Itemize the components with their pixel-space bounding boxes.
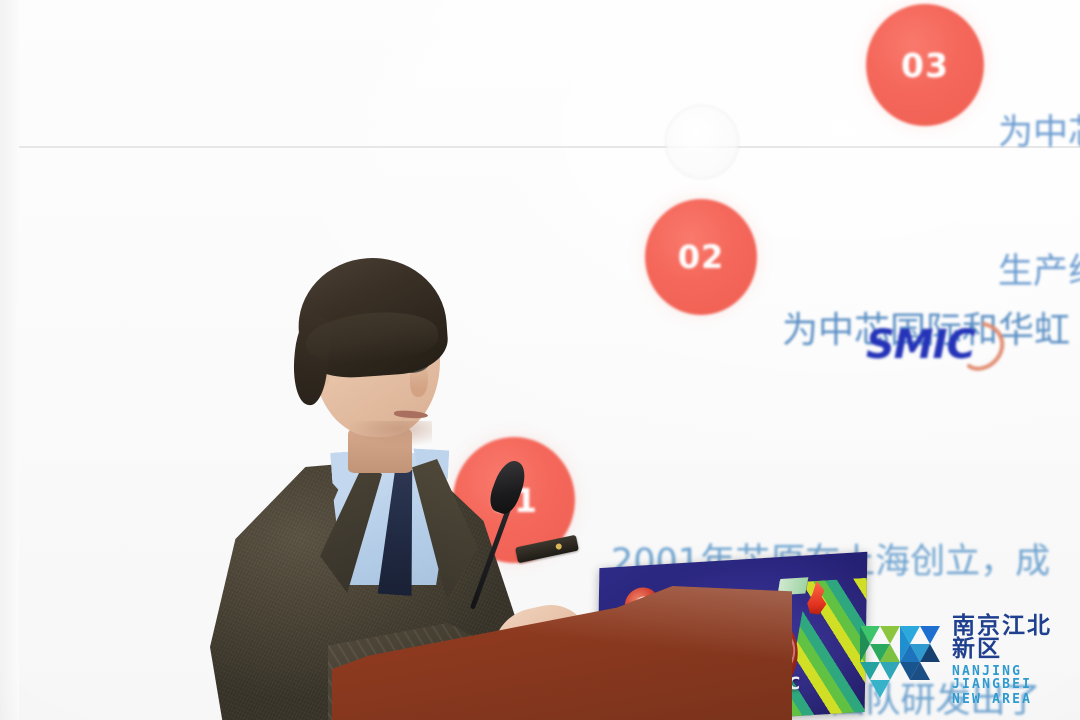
watermark-en-line2: NEW AREA: [952, 693, 1072, 706]
gooseneck-microphone: [470, 460, 600, 610]
microphone-stem: [470, 497, 515, 610]
smic-wordmark: SMIC: [866, 322, 975, 368]
watermark-text: 南京江北新区 NANJING JIANGBEI NEW AREA: [952, 615, 1072, 706]
watermark-en-line1: NANJING JIANGBEI: [952, 665, 1072, 691]
smic-logo: SMIC: [866, 316, 1006, 372]
nanjing-jiangbei-new-area-watermark: 南京江北新区 NANJING JIANGBEI NEW AREA: [858, 612, 1072, 708]
bullet-number-03: 03: [866, 4, 984, 126]
flame-logo-icon: [804, 580, 829, 616]
faint-circle-decoration: [666, 106, 738, 178]
watermark-logo-icon: [858, 620, 942, 700]
bullet-text-03-line1: 为中芯: [998, 110, 1080, 156]
bullet-number-03-label: 03: [901, 46, 949, 85]
screenshot-root: 03 为中芯 生产线 02 为中芯国际和华虹 SMIC 01 2001年芯原在上…: [0, 0, 1080, 720]
bullet-number-02-label: 02: [678, 238, 725, 276]
watermark-cn: 南京江北新区: [952, 615, 1072, 661]
microphone-head: [486, 457, 531, 517]
face-shading: [348, 421, 432, 447]
bullet-number-02: 02: [645, 199, 757, 315]
